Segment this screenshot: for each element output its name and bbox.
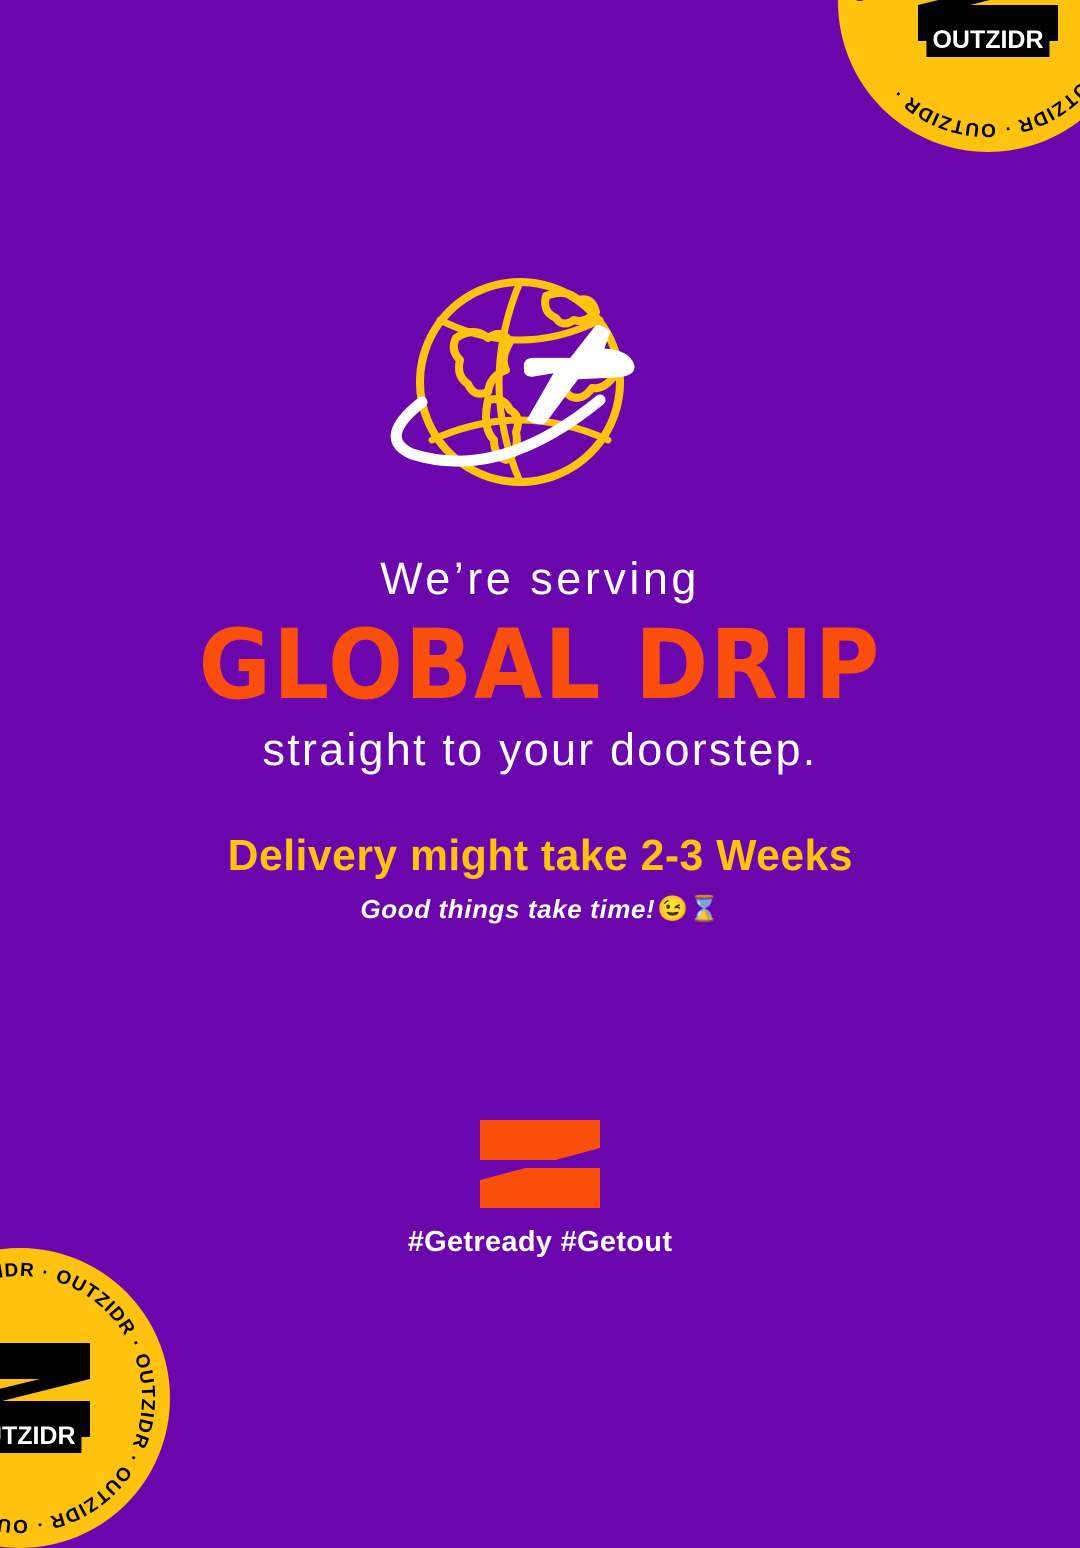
- wink-hourglass-emoji: 😉⌛: [657, 897, 719, 922]
- tagline-line-2: straight to your doorstep.: [263, 727, 818, 772]
- brand-badge-bottom-left: OUTZIDR · OUTZIDR · OUTZIDR · OUTZIDR · …: [0, 1248, 170, 1548]
- badge-core-word-tr: OUTZIDR: [926, 24, 1049, 57]
- tagline-line-1: We’re serving: [380, 556, 700, 601]
- poster-content: We’re serving GLOBAL DRIP straight to yo…: [0, 0, 1080, 1440]
- badge-core-word-bl: OUTZIDR: [0, 1420, 82, 1453]
- brand-badge-top-right: OUTZIDR · OUTZIDR · OUTZIDR · OUTZIDR · …: [838, 0, 1080, 152]
- badge-core-bl: OUTZIDR: [0, 1339, 100, 1457]
- hashtags: #Getready #Getout: [408, 1228, 673, 1257]
- delivery-subnote-row: Good things take time! 😉⌛: [360, 896, 719, 922]
- globe-airplane-icon: [370, 272, 710, 502]
- badge-core-tr: OUTZIDR: [908, 0, 1068, 61]
- delivery-subnote-text: Good things take time!: [360, 896, 655, 922]
- page-title: GLOBAL DRIP: [199, 617, 882, 713]
- z-logo-icon: [478, 1118, 602, 1210]
- delivery-notice: Delivery might take 2-3 Weeks: [227, 834, 852, 878]
